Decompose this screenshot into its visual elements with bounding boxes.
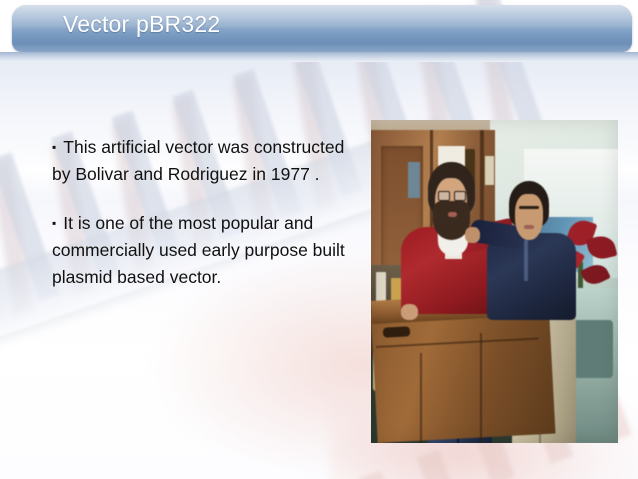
photo-vignette bbox=[371, 120, 618, 443]
lab-photo-two-scientists bbox=[371, 120, 618, 443]
bullet-text: This artificial vector was constructed b… bbox=[52, 137, 344, 184]
page-title: Vector pBR322 bbox=[63, 9, 220, 39]
list-item: ▪This artificial vector was constructed … bbox=[52, 134, 352, 188]
bullet-list: ▪This artificial vector was constructed … bbox=[52, 134, 352, 291]
title-banner-underline bbox=[0, 52, 638, 62]
list-item: ▪It is one of the most popular and comme… bbox=[52, 210, 352, 291]
bullet-marker-icon: ▪ bbox=[52, 139, 56, 156]
slide: Vector pBR322 ▪This artificial vector wa… bbox=[0, 0, 638, 479]
bullet-marker-icon: ▪ bbox=[52, 215, 56, 232]
bullet-text: It is one of the most popular and commer… bbox=[52, 213, 345, 287]
